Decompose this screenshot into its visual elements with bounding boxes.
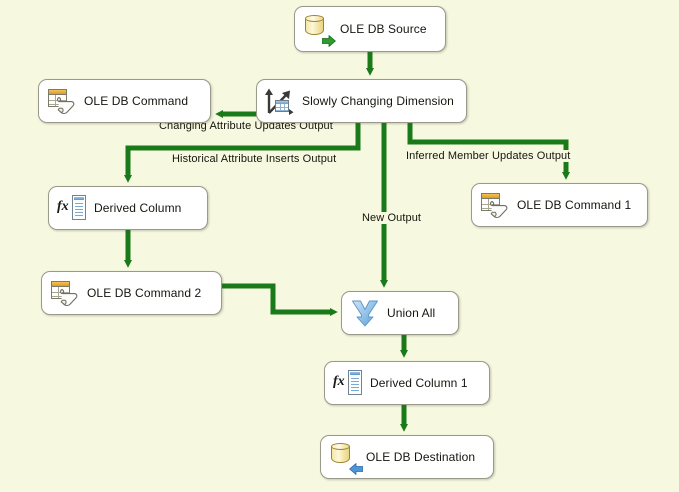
database-out-icon (303, 14, 333, 44)
script-scroll-glyph (489, 200, 510, 219)
union-all-icon (350, 298, 380, 328)
node-derived-column[interactable]: fx Derived Column (48, 186, 208, 230)
node-ole-db-command-1[interactable]: OLE DB Command 1 (471, 183, 648, 227)
table-script-icon (47, 86, 77, 116)
node-ole-db-source[interactable]: OLE DB Source (294, 6, 446, 52)
node-slowly-changing-dimension[interactable]: Slowly Changing Dimension (256, 79, 467, 123)
connector-scd-to-cmd1 (410, 123, 566, 175)
connector-cmd2-to-union (222, 286, 333, 312)
arrow-in-glyph (349, 463, 363, 475)
node-union-all[interactable]: Union All (341, 291, 459, 335)
node-ole-db-command[interactable]: OLE DB Command (38, 79, 211, 123)
database-in-icon (329, 442, 359, 472)
arrow-out-glyph (322, 35, 336, 47)
table-script-icon (50, 278, 80, 308)
node-label: Derived Column 1 (370, 376, 468, 390)
node-ole-db-destination[interactable]: OLE DB Destination (320, 435, 494, 479)
node-label: OLE DB Command 2 (87, 286, 201, 300)
node-label: OLE DB Source (340, 22, 427, 36)
derived-column-icon: fx (333, 368, 363, 398)
derived-column-icon: fx (57, 193, 87, 223)
node-ole-db-command-2[interactable]: OLE DB Command 2 (41, 271, 222, 315)
fx-glyph: fx (57, 200, 69, 214)
data-flow-canvas[interactable]: Changing Attribute Updates Output Histor… (0, 0, 679, 492)
edge-label-new-output: New Output (360, 212, 423, 224)
fx-glyph: fx (333, 375, 345, 389)
connector-layer (0, 0, 679, 492)
node-label: Slowly Changing Dimension (302, 94, 454, 108)
slowly-changing-dim-icon (265, 86, 295, 116)
node-label: OLE DB Destination (366, 450, 475, 464)
node-derived-column-1[interactable]: fx Derived Column 1 (324, 361, 490, 405)
script-scroll-glyph (56, 96, 77, 115)
edge-label-historical-attribute-inserts-output: Historical Attribute Inserts Output (170, 153, 338, 165)
edge-label-inferred-member-updates-output: Inferred Member Updates Output (404, 150, 572, 162)
node-label: Derived Column (94, 201, 181, 215)
node-label: OLE DB Command (84, 94, 188, 108)
node-label: OLE DB Command 1 (517, 198, 631, 212)
table-script-icon (480, 190, 510, 220)
merge-arrow-glyph (351, 299, 379, 327)
script-scroll-glyph (59, 288, 80, 307)
node-label: Union All (387, 306, 435, 320)
